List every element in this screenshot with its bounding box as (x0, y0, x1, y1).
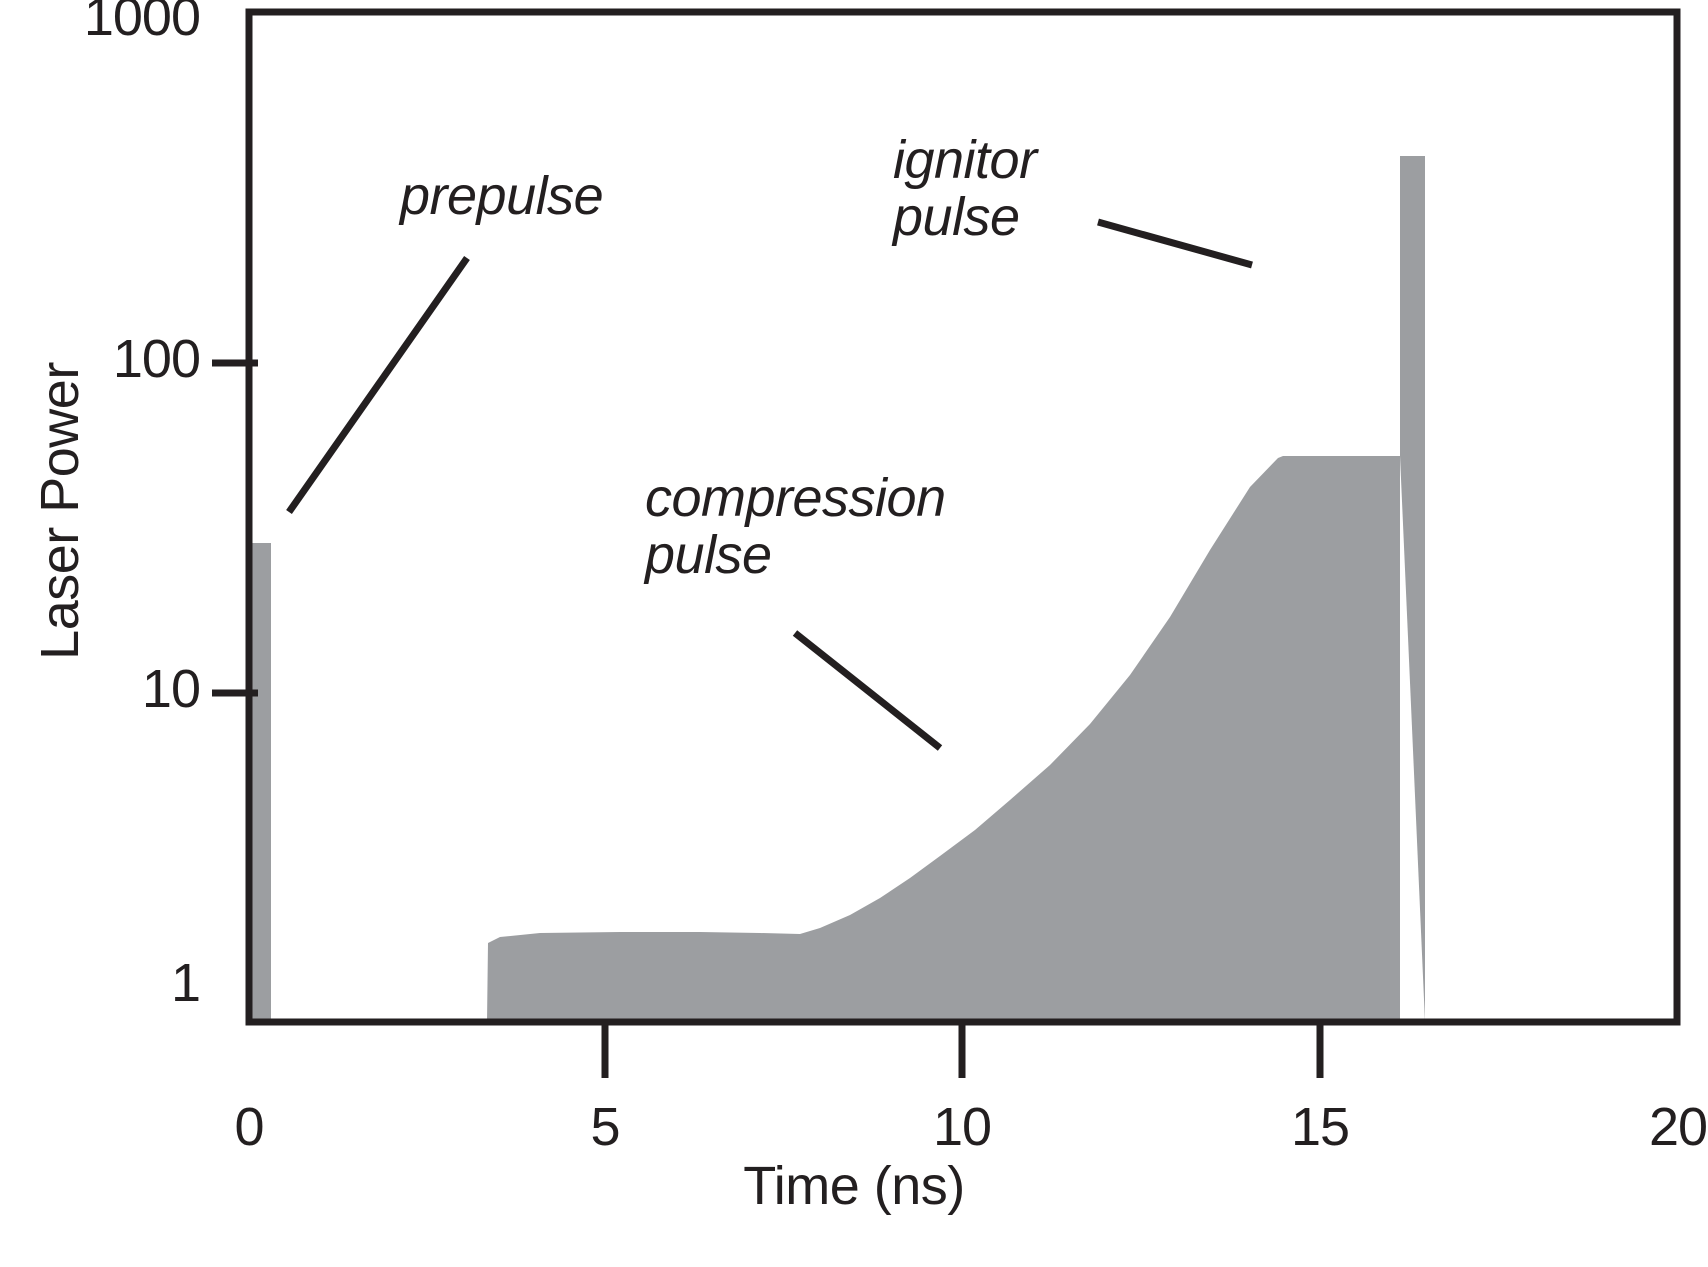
x-tick-label-10: 10 (902, 1096, 1022, 1158)
x-axis-title: Time (ns) (0, 1155, 1708, 1217)
ignitor-pulse-area (1400, 156, 1425, 1022)
annotation-prepulse: prepulse (400, 168, 603, 225)
y-axis-title: Laser Power (29, 346, 91, 676)
chart-figure: Laser Power 1000 100 10 1 0 5 10 15 20 T… (0, 0, 1708, 1267)
y-tick-label-100: 100 (50, 328, 200, 390)
x-tick-label-15: 15 (1260, 1096, 1380, 1158)
laser-pulse-shape-plot (0, 0, 1708, 1267)
annotation-compression-line1: compression (645, 470, 946, 527)
compression-leader-line (795, 633, 940, 748)
y-tick-label-1: 1 (50, 952, 200, 1014)
prepulse-leader-line (289, 258, 467, 512)
annotation-ignitor-pulse: ignitor pulse (893, 132, 1037, 246)
annotation-ignitor-line1: ignitor (893, 132, 1037, 189)
x-tick-label-20: 20 (1618, 1096, 1708, 1158)
y-tick-label-10: 10 (50, 658, 200, 720)
x-axis-ticks (605, 1022, 1320, 1078)
x-tick-label-5: 5 (545, 1096, 665, 1158)
annotation-compression-pulse: compression pulse (645, 470, 946, 584)
y-tick-label-1000: 1000 (50, 0, 200, 48)
ignitor-leader-line (1098, 222, 1252, 265)
x-tick-label-0: 0 (189, 1096, 309, 1158)
annotation-ignitor-line2: pulse (893, 189, 1037, 246)
annotation-compression-line2: pulse (645, 527, 946, 584)
pulse-area-group (249, 156, 1425, 1022)
